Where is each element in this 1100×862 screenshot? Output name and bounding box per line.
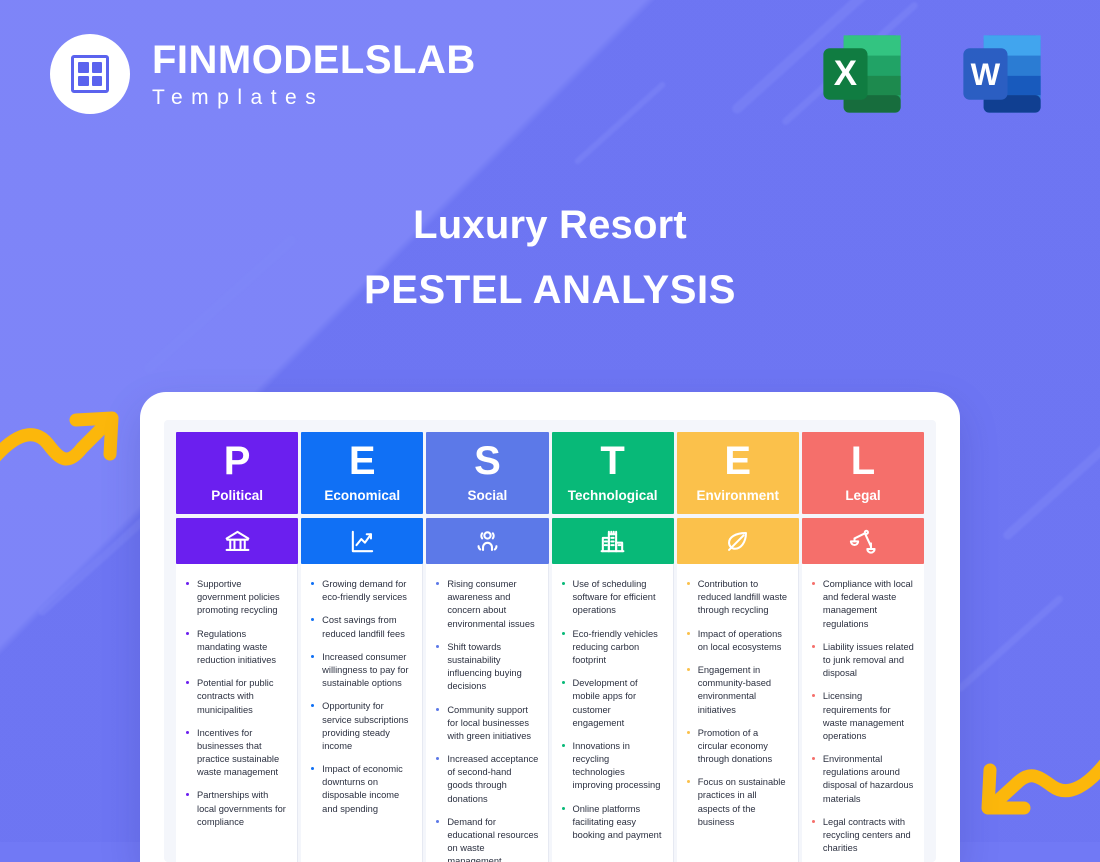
brand-tagline: Templates: [152, 87, 476, 108]
column-letter: P: [224, 441, 251, 481]
bullet-list: Growing demand for eco-friendly services…: [309, 578, 413, 816]
column-body: Use of scheduling software for efficient…: [552, 564, 674, 862]
brand-logo: FINMODELSLAB Templates: [50, 34, 476, 114]
list-item: Licensing requirements for waste managem…: [810, 690, 915, 743]
list-item: Increased acceptance of second-hand good…: [434, 753, 538, 806]
list-item: Rising consumer awareness and concern ab…: [434, 578, 538, 631]
column-letter: E: [349, 441, 376, 481]
list-item: Supportive government policies promoting…: [184, 578, 288, 618]
column-label: Political: [211, 488, 263, 503]
line-chart-icon: [301, 518, 423, 564]
list-item: Liability issues related to junk removal…: [810, 641, 915, 681]
page-title: Luxury Resort: [0, 203, 1100, 248]
list-item: Innovations in recycling technologies im…: [560, 740, 664, 793]
list-item: Promotion of a circular economy through …: [685, 727, 789, 767]
list-item: Legal contracts with recycling centers a…: [810, 816, 915, 856]
list-item: Demand for educational resources on wast…: [434, 816, 538, 862]
list-item: Use of scheduling software for efficient…: [560, 578, 664, 618]
column-label: Economical: [324, 488, 400, 503]
svg-text:W: W: [971, 57, 1001, 92]
factory-building-icon: [552, 518, 674, 564]
people-group-icon: [426, 518, 548, 564]
list-item: Impact of operations on local ecosystems: [685, 628, 789, 654]
list-item: Development of mobile apps for customer …: [560, 677, 664, 730]
column-body: Contribution to reduced landfill waste t…: [677, 564, 799, 862]
column-body: Rising consumer awareness and concern ab…: [426, 564, 548, 862]
pestel-column-political: P Political Supportive government polici…: [176, 432, 298, 862]
column-body: Growing demand for eco-friendly services…: [301, 564, 423, 862]
pestel-column-social: S Social Rising consumer awareness and c…: [426, 432, 548, 862]
squiggle-arrow-down-left-icon: [972, 752, 1100, 842]
squiggle-arrow-up-right-icon: [0, 400, 126, 490]
list-item: Opportunity for service subscriptions pr…: [309, 700, 413, 753]
tablet-screen: P Political Supportive government polici…: [164, 420, 936, 862]
pestel-column-legal: L Legal Compliance with local and federa…: [802, 432, 924, 862]
column-letter: E: [724, 441, 751, 481]
list-item: Regulations mandating waste reduction in…: [184, 628, 288, 668]
tablet-frame: P Political Supportive government polici…: [140, 392, 960, 862]
list-item: Shift towards sustainability influencing…: [434, 641, 538, 694]
office-icons: X W: [816, 28, 1048, 120]
grid-square-icon: [71, 55, 109, 93]
column-body: Compliance with local and federal waste …: [802, 564, 924, 862]
column-letter: L: [851, 441, 875, 481]
bullet-list: Use of scheduling software for efficient…: [560, 578, 664, 842]
column-label: Technological: [568, 488, 658, 503]
list-item: Eco-friendly vehicles reducing carbon fo…: [560, 628, 664, 668]
bank-columns-icon: [176, 518, 298, 564]
list-item: Engagement in community-based environmen…: [685, 664, 789, 717]
column-letter: S: [474, 441, 501, 481]
pestel-column-economical: E Economical Growing demand for eco-frie…: [301, 432, 423, 862]
list-item: Online platforms facilitating easy booki…: [560, 803, 664, 843]
list-item: Contribution to reduced landfill waste t…: [685, 578, 789, 618]
bullet-list: Contribution to reduced landfill waste t…: [685, 578, 789, 829]
list-item: Compliance with local and federal waste …: [810, 578, 915, 631]
list-item: Focus on sustainable practices in all as…: [685, 776, 789, 829]
header: FINMODELSLAB Templates X W: [0, 0, 1100, 150]
list-item: Cost savings from reduced landfill fees: [309, 614, 413, 640]
word-icon: W: [956, 28, 1048, 120]
list-item: Impact of economic downturns on disposab…: [309, 763, 413, 816]
title-block: Luxury Resort PESTEL ANALYSIS: [0, 203, 1100, 313]
column-header: S Social: [426, 432, 548, 514]
list-item: Incentives for businesses that practice …: [184, 727, 288, 780]
bullet-list: Supportive government policies promoting…: [184, 578, 288, 829]
column-label: Legal: [845, 488, 880, 503]
column-label: Social: [468, 488, 508, 503]
pestel-table: P Political Supportive government polici…: [176, 432, 924, 862]
list-item: Growing demand for eco-friendly services: [309, 578, 413, 604]
column-header: P Political: [176, 432, 298, 514]
bullet-list: Rising consumer awareness and concern ab…: [434, 578, 538, 862]
pestel-column-technological: T Technological Use of scheduling softwa…: [552, 432, 674, 862]
scales-balance-icon: [802, 518, 924, 564]
column-header: T Technological: [552, 432, 674, 514]
column-label: Environment: [697, 488, 780, 503]
column-header: E Economical: [301, 432, 423, 514]
brand-mark: [50, 34, 130, 114]
list-item: Potential for public contracts with muni…: [184, 677, 288, 717]
brand-text: FINMODELSLAB Templates: [152, 40, 476, 108]
list-item: Partnerships with local governments for …: [184, 789, 288, 829]
excel-icon: X: [816, 28, 908, 120]
column-letter: T: [600, 441, 624, 481]
leaf-icon: [677, 518, 799, 564]
bullet-list: Compliance with local and federal waste …: [810, 578, 915, 855]
list-item: Increased consumer willingness to pay fo…: [309, 651, 413, 691]
column-header: E Environment: [677, 432, 799, 514]
brand-name: FINMODELSLAB: [152, 40, 476, 80]
column-header: L Legal: [802, 432, 924, 514]
page-subtitle: PESTEL ANALYSIS: [0, 268, 1100, 313]
list-item: Environmental regulations around disposa…: [810, 753, 915, 806]
svg-text:X: X: [834, 54, 857, 93]
list-item: Community support for local businesses w…: [434, 704, 538, 744]
pestel-column-environment: E Environment Contribution to reduced la…: [677, 432, 799, 862]
column-body: Supportive government policies promoting…: [176, 564, 298, 862]
